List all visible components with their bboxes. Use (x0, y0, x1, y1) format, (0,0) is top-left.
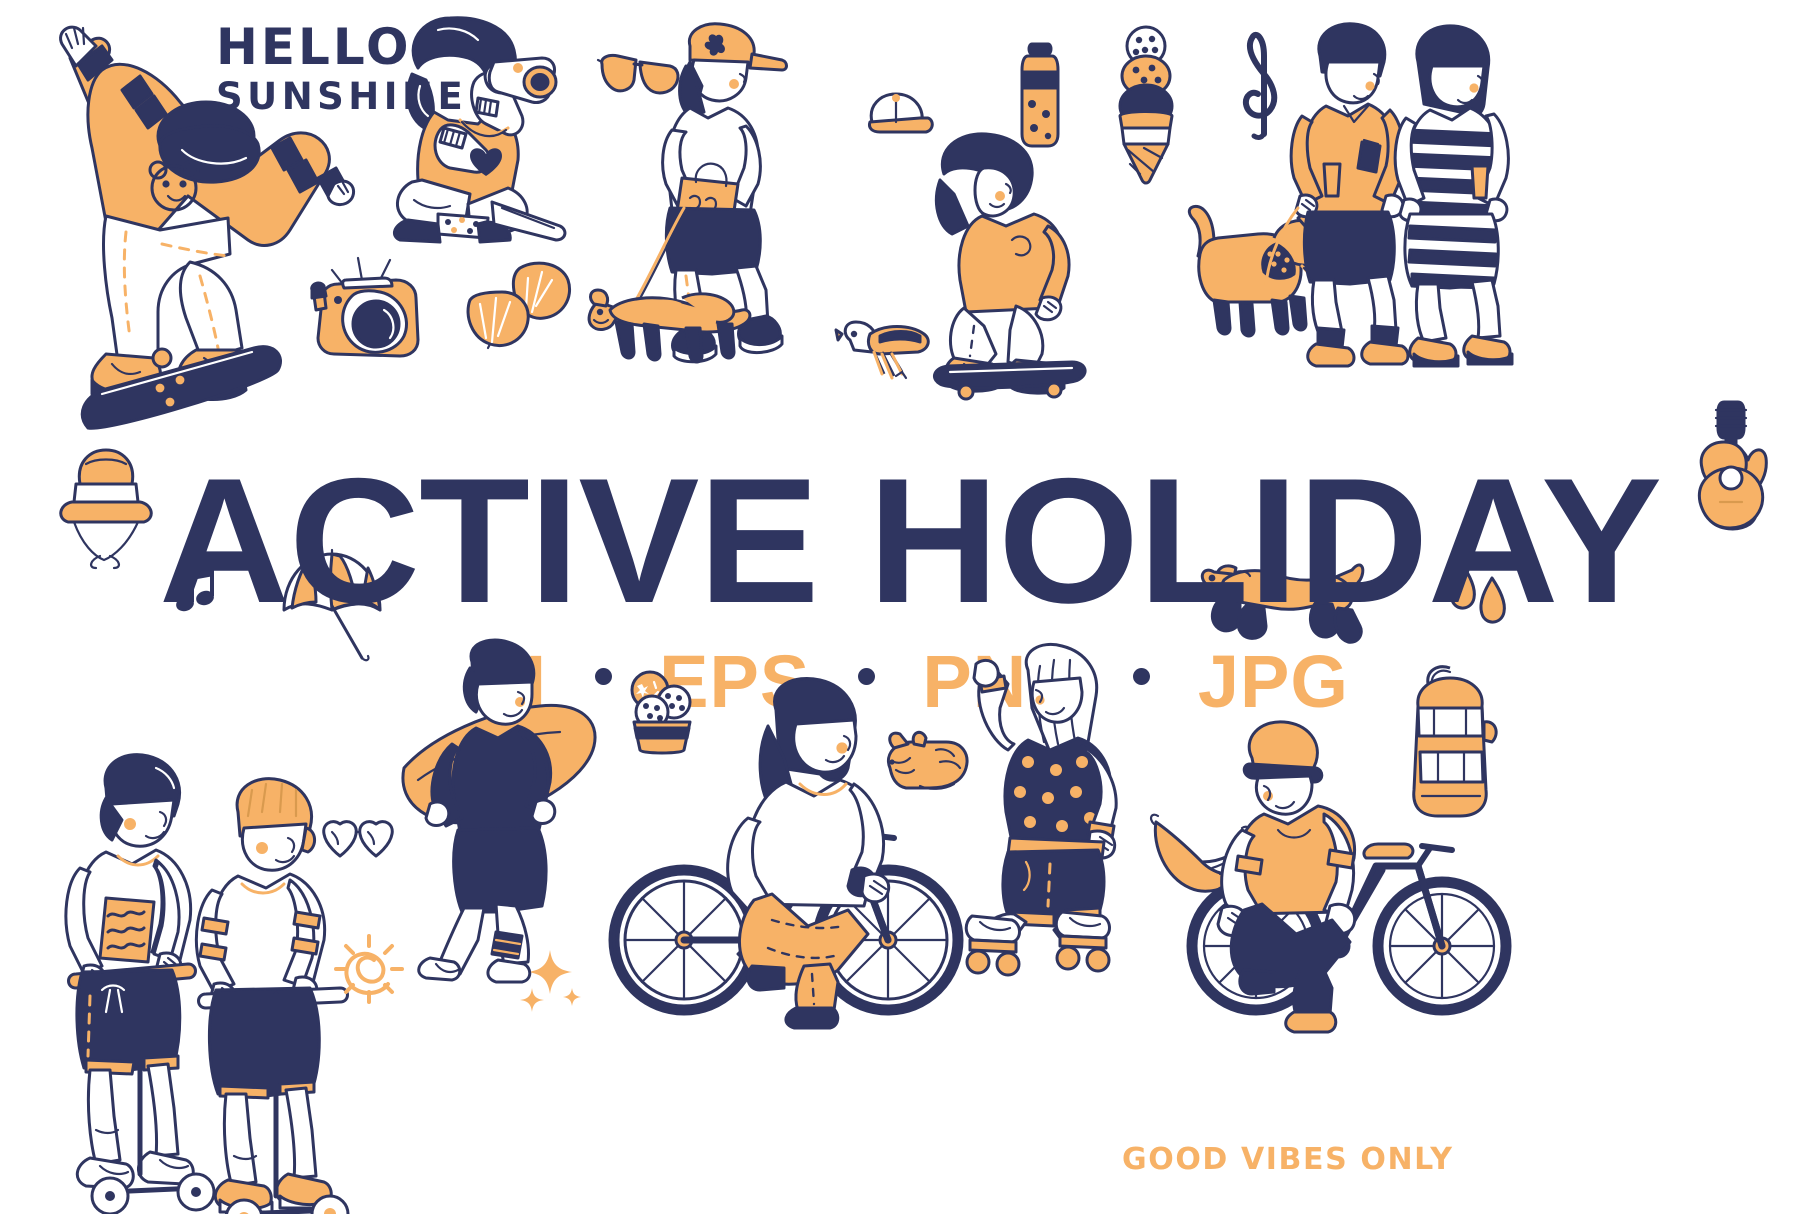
illustration-surfer-running (388, 640, 628, 980)
tagline-good-vibes-only: GOOD VIBES ONLY (1122, 1142, 1454, 1177)
illustration-sleeping-cat (880, 728, 970, 798)
illustration-heart-sunglasses (322, 818, 394, 862)
illustration-baseball-cap (862, 88, 934, 140)
illustration-ice-cream-cone (1108, 24, 1184, 184)
poster-canvas: HELLO SUNSHINE (0, 0, 1820, 1214)
illustration-camera (300, 248, 440, 363)
illustration-backpack (1404, 662, 1502, 822)
illustration-treble-clef (1240, 22, 1284, 140)
illustration-woman-walking-dog (586, 22, 846, 372)
page-title: ACTIVE HOLIDAY (0, 452, 1820, 630)
illustration-bird-flying (836, 306, 932, 384)
illustration-couple-walking (1288, 18, 1518, 368)
illustration-photographer-sitting (382, 12, 582, 242)
illustration-roller-skater (970, 646, 1170, 946)
illustration-skateboarder-crouching (930, 130, 1110, 400)
illustration-monstera-leaves (462, 258, 572, 348)
illustration-roller-skates (964, 906, 1124, 976)
